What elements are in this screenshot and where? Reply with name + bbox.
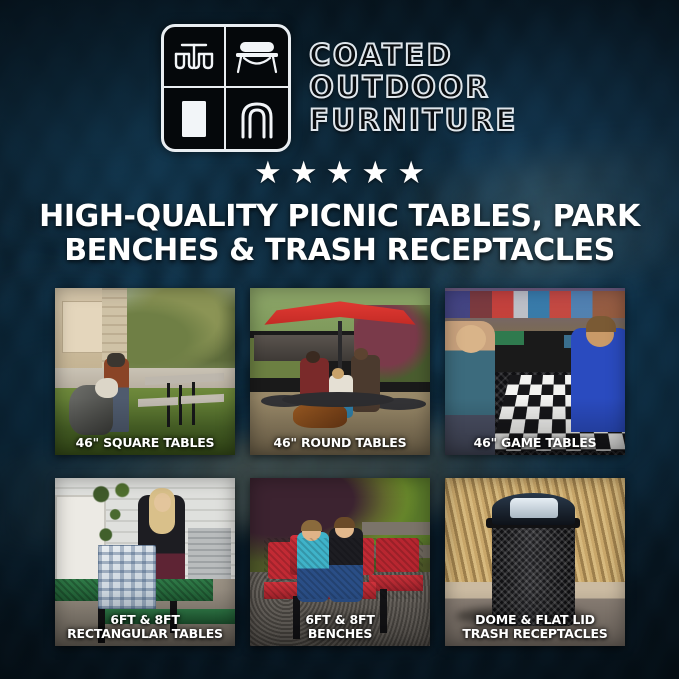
scene-bag-pattern xyxy=(98,545,156,609)
brand-word-outdoor: OUTDOOR xyxy=(309,72,518,103)
scene-child-head xyxy=(332,368,344,379)
product-photo-round-tables xyxy=(250,288,430,455)
caption-line-2: RECTANGULAR TABLES xyxy=(67,626,223,641)
product-tile-game-tables[interactable]: 46" GAME TABLES xyxy=(445,288,625,455)
product-caption-round-tables: 46" ROUND TABLES xyxy=(250,436,430,450)
brand-word-furniture: FURNITURE xyxy=(309,105,518,136)
brand-wordmark: COATED OUTDOOR FURNITURE xyxy=(309,40,518,136)
scene-woman-head xyxy=(456,325,486,353)
product-caption-trash-receptacles: DOME & FLAT LID TRASH RECEPTACLES xyxy=(445,613,625,640)
brand-logo: COATED OUTDOOR FURNITURE xyxy=(0,24,679,152)
product-grid: 46" SQUARE TABLES xyxy=(55,288,625,646)
star-icon: ★ xyxy=(254,157,282,188)
caption-line-1: 46" GAME TABLES xyxy=(474,435,597,450)
star-icon: ★ xyxy=(361,157,389,188)
product-tile-trash-receptacles[interactable]: DOME & FLAT LID TRASH RECEPTACLES xyxy=(445,478,625,646)
product-tile-round-tables[interactable]: 46" ROUND TABLES xyxy=(250,288,430,455)
scene-dog-head xyxy=(95,378,118,398)
picnic-table-icon xyxy=(164,27,226,88)
product-photo-game-tables xyxy=(445,288,625,455)
product-caption-rectangular-tables: 6FT & 8FT RECTANGULAR TABLES xyxy=(55,613,235,640)
trash-receptacle-icon xyxy=(164,88,226,149)
promo-banner: COATED OUTDOOR FURNITURE ★ ★ ★ ★ ★ HIGH-… xyxy=(0,0,679,679)
scene-boy-hair xyxy=(301,520,322,531)
product-caption-square-tables: 46" SQUARE TABLES xyxy=(55,436,235,450)
product-tile-rectangular-tables[interactable]: 6FT & 8FT RECTANGULAR TABLES xyxy=(55,478,235,646)
product-photo-square-tables xyxy=(55,288,235,455)
scene-table-leg xyxy=(192,382,195,425)
product-caption-game-tables: 46" GAME TABLES xyxy=(445,436,625,450)
star-icon: ★ xyxy=(397,157,425,188)
scene-garage-door xyxy=(62,301,107,353)
scene-event-tents xyxy=(445,291,625,318)
caption-line-2: TRASH RECEPTACLES xyxy=(462,626,607,641)
caption-line-2: BENCHES xyxy=(308,626,372,641)
scene-bench-perforation xyxy=(264,538,422,598)
product-tile-square-tables[interactable]: 46" SQUARE TABLES xyxy=(55,288,235,455)
scene-trash-can-mesh xyxy=(492,522,575,626)
scene-table-leg xyxy=(179,385,182,425)
scene-trees xyxy=(118,288,235,372)
star-rating: ★ ★ ★ ★ ★ xyxy=(0,157,679,188)
star-icon: ★ xyxy=(326,157,354,188)
headline-line-2: BENCHES & TRASH RECEPTACLES xyxy=(28,234,651,268)
brand-word-coated: COATED xyxy=(309,40,518,71)
product-caption-benches: 6FT & 8FT BENCHES xyxy=(250,613,430,640)
scene-boy-hair xyxy=(334,517,355,528)
scene-ac-unit xyxy=(188,528,231,578)
star-icon: ★ xyxy=(290,157,318,188)
bike-rack-icon xyxy=(226,88,288,149)
headline: HIGH-QUALITY PICNIC TABLES, PARK BENCHES… xyxy=(28,200,651,267)
product-tile-benches[interactable]: 6FT & 8FT BENCHES xyxy=(250,478,430,646)
scene-dome-opening xyxy=(510,498,559,518)
logo-icon-grid xyxy=(161,24,291,152)
scene-round-table xyxy=(282,392,394,407)
bench-icon xyxy=(226,27,288,88)
caption-line-1: 46" SQUARE TABLES xyxy=(76,435,215,450)
scene-woman-face xyxy=(154,493,171,512)
headline-line-1: HIGH-QUALITY PICNIC TABLES, PARK xyxy=(39,199,640,234)
scene-person-head xyxy=(107,353,125,367)
caption-line-1: 46" ROUND TABLES xyxy=(274,435,407,450)
scene-boy-hair xyxy=(586,316,616,332)
